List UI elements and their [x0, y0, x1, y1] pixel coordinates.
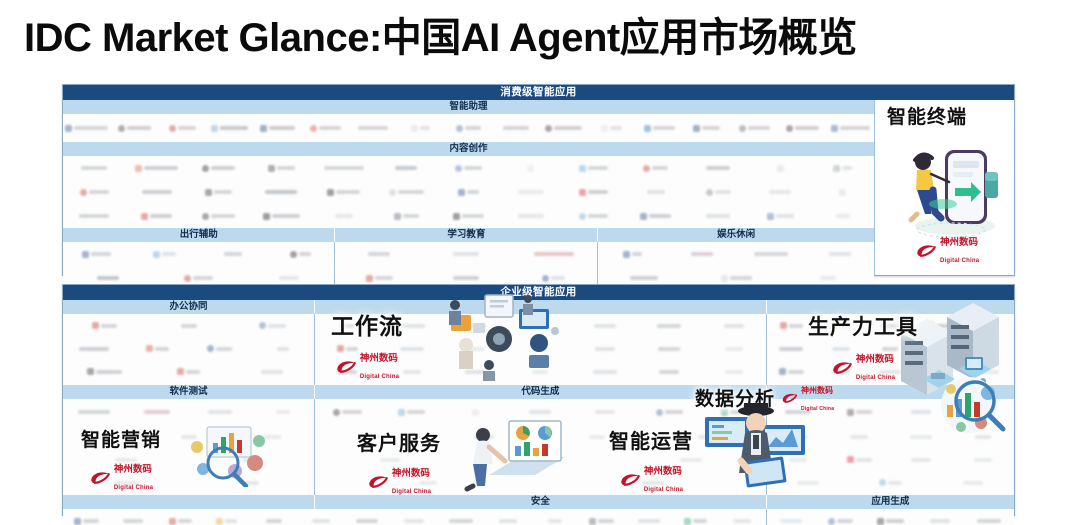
vendor-logo: [189, 345, 252, 352]
subheader-row4-left: [63, 495, 315, 509]
vendor-logo: [667, 252, 736, 256]
vendor-logo: [204, 518, 251, 525]
vendor-logo: [423, 276, 510, 280]
vendor-logo: [915, 347, 964, 351]
vendor-logo: [805, 252, 874, 256]
digital-china-swirl-icon: [335, 358, 357, 374]
vendor-logo: [250, 519, 297, 523]
vendor-logo: [188, 165, 250, 172]
vendor-logo: [637, 370, 701, 374]
vendor-logo: [250, 190, 312, 194]
vendor-logo: [812, 165, 874, 172]
vendor-logo: [131, 251, 199, 258]
vendor-logo: [397, 125, 445, 132]
digital-china-swirl-icon: [781, 391, 798, 404]
vendor-logo: [531, 519, 578, 523]
vendor-logo: [890, 435, 952, 439]
vendor-logo: [829, 456, 891, 463]
vendor-logo: [188, 189, 250, 196]
consumer-applications-panel: 消费级智能应用 智能助理: [62, 84, 1015, 276]
vendor-logo: [562, 165, 624, 172]
brand-text: 神州数码 Digital China: [801, 381, 834, 415]
vendor-logo: [915, 370, 964, 374]
vendor-logo: [125, 190, 187, 194]
vendor-logo: [297, 519, 344, 523]
vendor-logo: [344, 519, 391, 523]
vendor-logo: [230, 370, 314, 374]
callout-label: 智能终端: [887, 102, 967, 129]
consumer-section-header: 消费级智能应用: [63, 85, 1014, 100]
vendor-logo: [126, 410, 189, 414]
logo-band-smart-assistant: [63, 114, 874, 142]
vendor-logo: [315, 409, 379, 416]
vendor-logo: [952, 435, 1014, 439]
digital-china-brand-logo: 神州数码 Digital China: [781, 381, 834, 415]
vendor-logo: [188, 213, 250, 220]
vendor-logo: [508, 324, 572, 328]
logo-band-content-creation: [63, 156, 874, 228]
vendor-logo: [199, 252, 267, 256]
vendor-logo: [444, 370, 508, 374]
vendor-logo: [829, 409, 891, 416]
digital-china-brand-logo: 神州数码 Digital China: [915, 233, 979, 267]
vendor-logo: [428, 435, 541, 439]
vendor-logo: [437, 189, 499, 196]
vendor-logo: [391, 519, 438, 523]
vendor-logo: [965, 519, 1014, 523]
enterprise-applications-panel: 企业级智能应用 办公协同: [62, 284, 1015, 516]
vendor-logo: [562, 213, 624, 220]
vendor-logo: [932, 481, 1014, 485]
callout-workflow: 工作流 神州数码 Digital China: [331, 307, 403, 383]
brand-text: 神州数码 Digital China: [360, 349, 399, 383]
subheader-application-generation: 应用生成: [767, 495, 1014, 509]
vendor-logo: [63, 410, 126, 414]
vendor-logo: [244, 276, 335, 280]
vendor-logo: [63, 125, 111, 132]
enterprise-row4-subheaders: 安全 应用生成: [63, 495, 1014, 509]
vendor-logo: [206, 125, 254, 132]
vendor-logo: [719, 519, 766, 523]
vendor-logo: [915, 322, 964, 329]
vendor-logo: [965, 347, 1014, 351]
digital-china-swirl-icon: [619, 471, 641, 487]
vendor-logo: [125, 165, 187, 172]
vendor-logo: [111, 125, 159, 132]
vendor-logo: [767, 519, 816, 523]
vendor-logo: [437, 213, 499, 220]
column-security: [63, 509, 767, 525]
vendor-logo: [849, 479, 931, 486]
smart-terminal-illustration: [893, 134, 1003, 239]
vendor-logo: [154, 275, 245, 282]
vendor-logo: [749, 165, 811, 172]
page-title: IDC Market Glance:中国AI Agent应用市场概览: [24, 16, 1064, 60]
vendor-logo: [637, 324, 701, 328]
vendor-logo: [701, 324, 765, 328]
digital-china-brand-logo: 神州数码 Digital China: [367, 464, 431, 498]
vendor-logo: [637, 347, 701, 351]
vendor-logo: [465, 458, 615, 462]
vendor-logo: [313, 189, 375, 196]
smart-terminal-column: 智能终端 神州数码 Digital China: [874, 100, 1014, 275]
column-entertainment-leisure: [598, 242, 874, 290]
vendor-logo: [635, 125, 683, 132]
consumer-content: 智能助理: [63, 100, 874, 275]
column-travel-assist: [63, 242, 335, 290]
logo-band-consumer-bottom: [63, 242, 874, 290]
vendor-logo: [63, 166, 125, 170]
vendor-logo: [500, 214, 562, 218]
vendor-logo: [690, 275, 782, 282]
digital-china-swirl-icon: [367, 473, 389, 489]
callout-label: 客户服务: [357, 427, 441, 456]
vendor-logo: [63, 322, 147, 329]
vendor-logo: [687, 166, 749, 170]
vendor-logo: [445, 125, 493, 132]
subheader-travel-assist: 出行辅助: [63, 228, 335, 242]
vendor-logo: [965, 370, 1014, 374]
vendor-logo: [349, 126, 397, 130]
digital-china-brand-logo: 神州数码 Digital China: [831, 350, 895, 384]
vendor-logo: [63, 251, 131, 258]
vendor-logo: [251, 347, 314, 351]
brand-name-en: Digital China: [856, 375, 895, 381]
vendor-logo: [816, 518, 865, 525]
brand-name-en: Digital China: [360, 374, 399, 380]
callout-smart-marketing: 智能营销 神州数码 Digital China: [81, 425, 161, 494]
vendor-logo: [63, 518, 110, 525]
digital-china-brand-logo: 神州数码 Digital China: [619, 462, 683, 496]
enterprise-section-header: 企业级智能应用: [63, 285, 1014, 300]
vendor-logo: [423, 252, 510, 256]
callout-data-analysis: 数据分析 神州数码 Digital China: [695, 381, 834, 415]
vendor-logo: [438, 519, 485, 523]
vendor-logo: [500, 190, 562, 194]
brand-name-en: Digital China: [392, 489, 431, 495]
subheader-learning-education: 学习教育: [335, 228, 598, 242]
vendor-logo: [510, 275, 597, 282]
brand-name-en: Digital China: [801, 406, 834, 412]
vendor-logo: [826, 125, 874, 132]
vendor-logo: [125, 213, 187, 220]
vendor-logo: [952, 458, 1014, 462]
subheader-office-collaboration: 办公协同: [63, 300, 315, 314]
enterprise-row2-subheaders: 软件测试 代码生成: [63, 385, 1014, 399]
subheader-smart-assistant: 智能助理: [63, 100, 874, 114]
subheader-content-creation: 内容创作: [63, 142, 874, 156]
column-learning-education: [335, 242, 598, 290]
vendor-logo: [313, 166, 375, 170]
brand-text: 神州数码 Digital China: [940, 233, 979, 267]
vendor-logo: [767, 481, 849, 485]
vendor-logo: [250, 213, 312, 220]
vendor-logo: [250, 165, 312, 172]
vendor-logo: [189, 410, 252, 414]
vendor-logo: [157, 518, 204, 525]
vendor-logo: [782, 276, 874, 280]
column-software-testing: [63, 399, 315, 425]
vendor-logo: [492, 126, 540, 130]
vendor-logo: [444, 409, 508, 416]
vendor-logo: [625, 190, 687, 194]
vendor-logo: [444, 324, 508, 328]
callout-smart-operations: 智能运营 神州数码 Digital China: [609, 425, 693, 496]
vendor-logo: [540, 125, 588, 132]
vendor-logo: [683, 125, 731, 132]
vendor-logo: [749, 190, 811, 194]
logo-band-enterprise-row2: [63, 399, 1014, 425]
vendor-logo: [672, 518, 719, 525]
column-application-generation: [767, 509, 1014, 525]
vendor-logo: [230, 435, 314, 439]
vendor-logo: [812, 189, 874, 196]
vendor-logo: [779, 125, 827, 132]
vendor-logo: [952, 410, 1014, 414]
vendor-logo: [890, 458, 952, 462]
callout-smart-terminal: 智能终端: [887, 102, 967, 129]
callout-label: 智能运营: [609, 425, 693, 454]
vendor-logo: [147, 368, 231, 375]
vendor-logo: [701, 370, 765, 374]
callout-label: 数据分析: [695, 384, 775, 411]
vendor-logo: [313, 214, 375, 218]
digital-china-swirl-icon: [89, 469, 111, 485]
digital-china-brand-logo: 神州数码 Digital China: [89, 460, 153, 494]
vendor-logo: [375, 189, 437, 196]
vendor-logo: [335, 275, 422, 282]
vendor-logo: [147, 324, 231, 328]
callout-label: 生产力工具: [808, 311, 918, 341]
brand-name-cn: 神州数码: [392, 468, 430, 479]
vendor-logo: [508, 410, 572, 414]
vendor-logo: [812, 214, 874, 218]
vendor-logo: [437, 165, 499, 172]
vendor-logo: [965, 324, 1014, 328]
column-office-collaboration: [63, 314, 315, 385]
brand-name-en: Digital China: [644, 487, 683, 493]
brand-name-cn: 神州数码: [940, 237, 978, 248]
logo-band-enterprise-row4: [63, 509, 1014, 525]
vendor-logo: [598, 251, 667, 258]
subheader-entertainment-leisure: 娱乐休闲: [598, 228, 874, 242]
vendor-logo: [573, 370, 637, 374]
brand-name-cn: 神州数码: [360, 353, 398, 364]
vendor-logo: [63, 347, 126, 351]
vendor-logo: [736, 252, 805, 256]
brand-text: 神州数码 Digital China: [644, 462, 683, 496]
vendor-logo: [158, 125, 206, 132]
vendor-logo: [110, 519, 157, 523]
vendor-logo: [573, 347, 637, 351]
callout-label: 工作流: [331, 307, 403, 341]
vendor-logo: [63, 189, 125, 196]
vendor-logo: [637, 409, 701, 416]
vendor-logo: [625, 213, 687, 220]
vendor-logo: [375, 166, 437, 170]
vendor-logo: [230, 322, 314, 329]
brand-name-cn: 神州数码: [114, 464, 152, 475]
brand-name-en: Digital China: [940, 258, 979, 264]
brand-text: 神州数码 Digital China: [114, 460, 153, 494]
vendor-logo: [588, 125, 636, 132]
vendor-logo: [485, 519, 532, 523]
vendor-logo: [375, 213, 437, 220]
vendor-logo: [444, 347, 508, 351]
vendor-logo: [510, 252, 597, 256]
vendor-logo: [866, 518, 915, 525]
vendor-logo: [687, 214, 749, 218]
brand-name-cn: 神州数码: [644, 466, 682, 477]
vendor-logo: [890, 410, 952, 414]
vendor-logo: [63, 276, 154, 280]
vendor-logo: [500, 165, 562, 172]
vendor-logo: [749, 213, 811, 220]
vendor-logo: [573, 410, 637, 414]
brand-text: 神州数码 Digital China: [392, 464, 431, 498]
column-smart-operations: [767, 425, 1014, 495]
vendor-logo: [687, 189, 749, 196]
vendor-logo: [508, 370, 572, 374]
vendor-logo: [126, 345, 189, 352]
brand-name-cn: 神州数码: [856, 354, 894, 365]
digital-china-swirl-icon: [831, 359, 853, 375]
digital-china-swirl-icon: [915, 242, 937, 258]
vendor-logo: [915, 519, 964, 523]
vendor-logo: [701, 347, 765, 351]
vendor-logo: [578, 518, 625, 525]
vendor-logo: [731, 125, 779, 132]
vendor-logo: [267, 251, 335, 258]
vendor-logo: [254, 125, 302, 132]
subheader-software-testing: 软件测试: [63, 385, 315, 399]
brand-name-en: Digital China: [114, 485, 153, 491]
vendor-logo: [63, 368, 147, 375]
brand-text: 神州数码 Digital China: [856, 350, 895, 384]
vendor-logo: [335, 252, 422, 256]
vendor-logo: [189, 481, 315, 485]
vendor-logo: [508, 347, 572, 351]
vendor-logo: [767, 458, 829, 462]
vendor-logo: [625, 519, 672, 523]
vendor-logo: [562, 189, 624, 196]
callout-customer-service: 客户服务 神州数码 Digital China: [357, 427, 441, 498]
brand-name-cn: 神州数码: [801, 386, 833, 395]
vendor-logo: [598, 276, 690, 280]
vendor-logo: [189, 458, 315, 462]
vendor-logo: [379, 409, 443, 416]
vendor-logo: [251, 410, 314, 414]
vendor-logo: [302, 125, 350, 132]
vendor-logo: [625, 165, 687, 172]
vendor-logo: [573, 324, 637, 328]
digital-china-brand-logo: 神州数码 Digital China: [335, 349, 399, 383]
callout-productivity-tools: 生产力工具 神州数码 Digital China: [808, 311, 918, 384]
callout-label: 智能营销: [81, 425, 161, 452]
vendor-logo: [63, 214, 125, 218]
logo-band-enterprise-row3: [63, 425, 1014, 495]
vendor-logo: [767, 435, 829, 439]
vendor-logo: [829, 435, 891, 439]
consumer-bottom-subheaders: 出行辅助 学习教育 娱乐休闲: [63, 228, 874, 242]
market-glance-infographic: IDC Market Glance:中国AI Agent应用市场概览 消费级智能…: [0, 0, 1080, 525]
